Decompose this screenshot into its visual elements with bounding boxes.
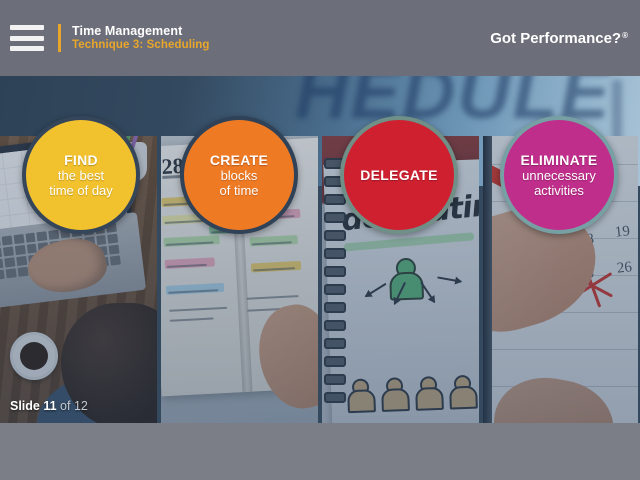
step-circle-find[interactable]: FIND the best time of day <box>22 116 140 234</box>
app-header: Time Management Technique 3: Scheduling … <box>0 0 640 76</box>
leader-figure-icon <box>389 258 420 297</box>
delegation-arrow-icon <box>365 283 386 297</box>
header-titles: Time Management Technique 3: Scheduling <box>72 24 210 52</box>
delegation-arrow-icon <box>437 276 461 282</box>
slide-counter: Slide 11 of 12 <box>10 399 88 413</box>
cal-cell <box>8 198 28 215</box>
step-circle-delegate[interactable]: DELEGATE <box>340 116 458 234</box>
step-line3: activities <box>534 183 584 198</box>
step-line2: unnecessary <box>522 168 596 183</box>
notebook-spiral <box>322 158 344 423</box>
calendar-date: 19 <box>614 223 631 241</box>
registered-mark-icon: ® <box>622 31 628 40</box>
step-line3: of time <box>219 183 258 198</box>
hamburger-bar <box>10 25 44 30</box>
course-title: Time Management <box>72 24 210 38</box>
step-line2: blocks <box>221 168 258 183</box>
header-divider <box>58 24 61 52</box>
hamburger-bar <box>10 36 44 41</box>
slide-counter-total: of 12 <box>60 399 88 413</box>
brand-logo: Got Performance?® <box>490 30 628 47</box>
step-headline: DELEGATE <box>360 167 438 183</box>
slide-counter-current: Slide 11 <box>10 399 57 413</box>
hamburger-bar <box>10 46 44 51</box>
team-member-icon <box>381 377 406 408</box>
brand-text: Got Performance? <box>490 30 621 47</box>
coffee-cup <box>10 332 58 380</box>
lesson-subtitle: Technique 3: Scheduling <box>72 39 210 52</box>
step-headline: ELIMINATE <box>520 152 597 168</box>
step-headline: CREATE <box>210 152 268 168</box>
slide-viewer: Time Management Technique 3: Scheduling … <box>0 0 640 480</box>
hamburger-menu-icon[interactable] <box>10 25 44 51</box>
step-circle-eliminate[interactable]: ELIMINATE unnecessary activities <box>500 116 618 234</box>
panel-left-edge <box>483 136 492 423</box>
slide-canvas: HEDULE <box>0 76 640 423</box>
step-headline: FIND <box>64 152 98 168</box>
calendar-date: 26 <box>616 259 633 277</box>
cal-cell <box>2 151 22 168</box>
team-member-icon <box>415 376 440 407</box>
step-line2: the best <box>58 168 104 183</box>
step-circle-create[interactable]: CREATE blocks of time <box>180 116 298 234</box>
team-member-icon <box>449 375 474 406</box>
team-member-icon <box>347 378 372 409</box>
step-line3: time of day <box>49 183 113 198</box>
